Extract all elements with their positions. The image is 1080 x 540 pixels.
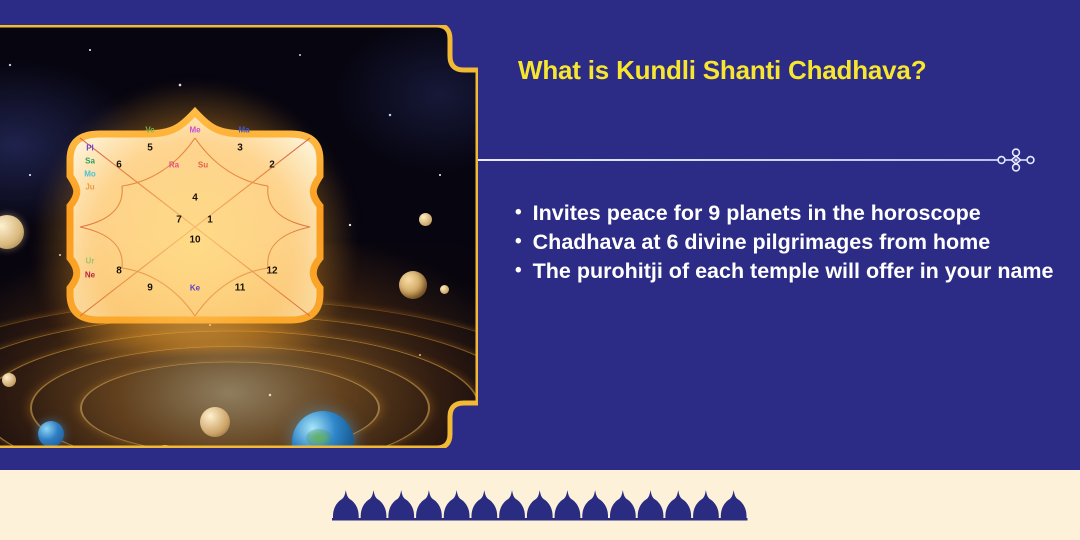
list-item-label: Chadhava at 6 divine pilgrimages from ho… <box>533 229 991 257</box>
kundli-house-number: 5 <box>147 143 153 154</box>
kundli-house-number: 8 <box>116 266 122 277</box>
list-item: •The purohitji of each temple will offer… <box>515 258 1055 286</box>
kundli-house-number: 7 <box>176 215 182 226</box>
temple-dome-icon <box>610 490 636 520</box>
divider <box>478 148 1040 172</box>
temple-dome-icon <box>527 490 553 520</box>
kundli-chart: 123456789101112VeMeMaRaSuPlSaMoJuUrNeKe <box>62 108 328 326</box>
kundli-house-number: 12 <box>266 266 277 277</box>
bullet-dot-icon: • <box>515 200 522 226</box>
temple-dome-icon <box>472 490 498 520</box>
kundli-planet-label: Su <box>198 161 208 170</box>
list-item: •Invites peace for 9 planets in the horo… <box>515 200 1055 228</box>
temple-dome-icon <box>499 490 525 520</box>
kundli-planet-label: Ur <box>86 257 95 266</box>
temple-dome-icon <box>444 490 470 520</box>
list-item-label: The purohitji of each temple will offer … <box>533 258 1054 286</box>
feature-bullet-list: •Invites peace for 9 planets in the horo… <box>515 200 1055 287</box>
kundli-house-number: 2 <box>269 160 275 171</box>
temple-dome-icon <box>721 490 747 520</box>
kundli-house-number: 3 <box>237 143 243 154</box>
temple-dome-icon <box>693 490 719 520</box>
kundli-planet-label: Ju <box>85 183 94 192</box>
temple-dome-border <box>332 488 748 527</box>
temple-dome-icon <box>333 490 359 520</box>
temple-dome-icon <box>582 490 608 520</box>
list-item-label: Invites peace for 9 planets in the horos… <box>533 200 981 228</box>
kundli-planet-label: Ma <box>238 126 249 135</box>
temple-dome-icon <box>361 490 387 520</box>
dome-baseline <box>332 518 748 521</box>
kundli-planet-label: Ke <box>190 284 200 293</box>
page-title: What is Kundli Shanti Chadhava? <box>518 56 1048 85</box>
kundli-house-number: 1 <box>207 215 213 226</box>
kundli-planet-label: Ra <box>169 161 179 170</box>
bullet-dot-icon: • <box>515 258 522 284</box>
bottom-strip <box>0 470 1080 540</box>
kundli-illustration-panel: 123456789101112VeMeMaRaSuPlSaMoJuUrNeKe <box>0 25 478 448</box>
banner: 123456789101112VeMeMaRaSuPlSaMoJuUrNeKe … <box>0 0 1080 470</box>
list-item: •Chadhava at 6 divine pilgrimages from h… <box>515 229 1055 257</box>
divider-line <box>478 159 999 161</box>
kundli-planet-label: Sa <box>85 157 95 166</box>
kundli-planet-label: Me <box>189 126 200 135</box>
kundli-house-number: 9 <box>147 283 153 294</box>
diamond-flourish-ornament <box>993 148 1039 177</box>
kundli-glow <box>36 84 354 352</box>
temple-dome-icon <box>416 490 442 520</box>
kundli-planet-label: Mo <box>84 170 96 179</box>
temple-dome-icon <box>555 490 581 520</box>
kundli-planet-label: Ve <box>145 126 154 135</box>
temple-dome-icon <box>638 490 664 520</box>
temple-dome-icon <box>388 490 414 520</box>
bullet-dot-icon: • <box>515 229 522 255</box>
kundli-house-number: 11 <box>235 283 246 294</box>
kundli-house-number: 4 <box>192 193 198 204</box>
kundli-house-number: 6 <box>116 160 122 171</box>
kundli-planet-label: Pl <box>86 144 94 153</box>
kundli-house-number: 10 <box>189 235 200 246</box>
temple-dome-icon <box>665 490 691 520</box>
content-column: What is Kundli Shanti Chadhava? <box>518 56 1048 85</box>
kundli-planet-label: Ne <box>85 271 95 280</box>
